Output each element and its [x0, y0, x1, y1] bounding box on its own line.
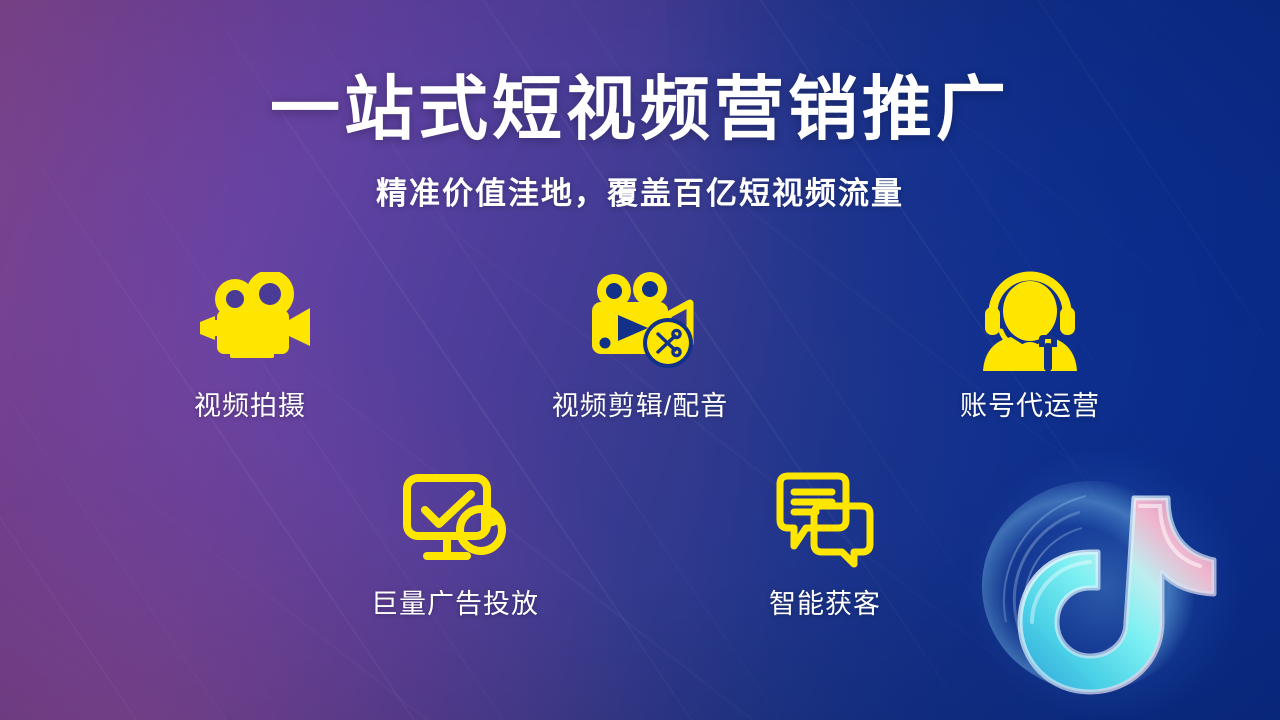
movie-camera-icon [190, 270, 310, 370]
service-item-account-operation[interactable]: 账号代运营 [925, 270, 1135, 423]
douyin-logo [962, 446, 1262, 716]
service-label: 巨量广告投放 [371, 582, 539, 621]
service-item-smart-acquisition[interactable]: 智能获客 [720, 468, 930, 621]
monitor-check-piechart-icon [399, 468, 511, 568]
headset-agent-wrench-icon [975, 270, 1085, 370]
page-subtitle: 精准价值洼地，覆盖百亿短视频流量 [0, 168, 1280, 213]
service-label: 智能获客 [769, 582, 881, 621]
video-edit-scissors-icon [578, 270, 702, 370]
chat-bubbles-icon [770, 468, 880, 568]
service-item-video-shooting[interactable]: 视频拍摄 [145, 270, 355, 423]
service-label: 账号代运营 [960, 384, 1100, 423]
page-title: 一站式短视频营销推广 [0, 72, 1280, 146]
service-item-ad-placement[interactable]: 巨量广告投放 [350, 468, 560, 621]
service-row-top: 视频拍摄 [0, 270, 1280, 423]
promo-banner: 一站式短视频营销推广 精准价值洼地，覆盖百亿短视频流量 [0, 0, 1280, 720]
headings-block: 一站式短视频营销推广 精准价值洼地，覆盖百亿短视频流量 [0, 72, 1280, 213]
service-item-video-editing[interactable]: 视频剪辑/配音 [535, 270, 745, 423]
service-label: 视频剪辑/配音 [552, 384, 729, 423]
service-label: 视频拍摄 [194, 384, 306, 423]
